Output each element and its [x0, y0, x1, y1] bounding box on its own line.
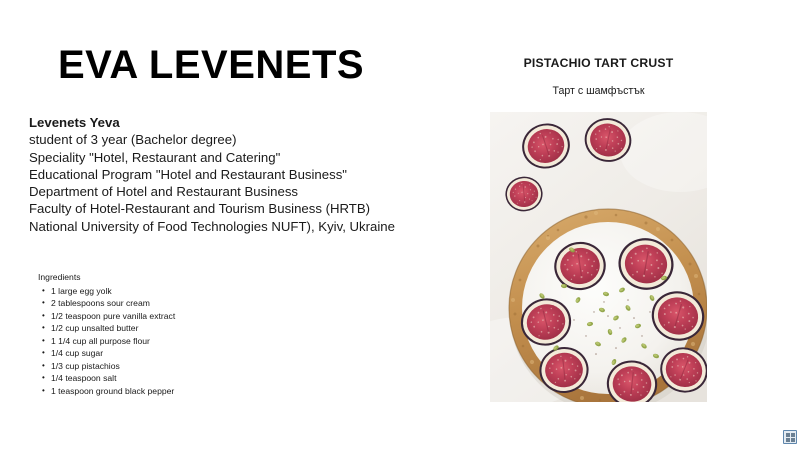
- slide-canvas: EVA LEVENETS Levenets Yeva student of 3 …: [0, 0, 800, 450]
- ingredients-list: •1 large egg yolk •2 tablespoons sour cr…: [38, 285, 298, 398]
- ingredient-text: 1/4 cup sugar: [51, 348, 103, 358]
- ingredients-heading: Ingredients: [38, 271, 298, 284]
- bio-block: Levenets Yeva student of 3 year (Bachelo…: [29, 114, 429, 235]
- bullet-icon: •: [42, 285, 45, 298]
- list-item: •1 teaspoon ground black pepper: [38, 385, 298, 398]
- fit-mark-bottom-left: [786, 438, 790, 442]
- ingredient-text: 1/3 cup pistachios: [51, 361, 120, 371]
- bullet-icon: •: [42, 360, 45, 373]
- bullet-icon: •: [42, 322, 45, 335]
- list-item: •1/4 cup sugar: [38, 347, 298, 360]
- bio-line-name: Levenets Yeva: [29, 114, 429, 131]
- ingredient-text: 1/2 cup unsalted butter: [51, 323, 138, 333]
- bullet-icon: •: [42, 385, 45, 398]
- bullet-icon: •: [42, 297, 45, 310]
- bio-line-university: National University of Food Technologies…: [29, 218, 429, 235]
- list-item: •1/3 cup pistachios: [38, 360, 298, 373]
- ingredient-text: 1 large egg yolk: [51, 286, 112, 296]
- fit-mark-top-left: [786, 433, 790, 437]
- ingredient-text: 1/4 teaspoon salt: [51, 373, 116, 383]
- tart-photo: [490, 112, 707, 402]
- recipe-subtitle-cyrillic: Тарт с шамфъстък: [490, 85, 707, 97]
- bio-line-program: Educational Program "Hotel and Restauran…: [29, 166, 429, 183]
- ingredient-text: 2 tablespoons sour cream: [51, 298, 150, 308]
- list-item: •1 large egg yolk: [38, 285, 298, 298]
- bullet-icon: •: [42, 372, 45, 385]
- list-item: •1 1/4 cup all purpose flour: [38, 335, 298, 348]
- recipe-title: PISTACHIO TART CRUST: [490, 56, 707, 70]
- list-item: •1/2 cup unsalted butter: [38, 322, 298, 335]
- bullet-icon: •: [42, 347, 45, 360]
- bio-line-faculty: Faculty of Hotel-Restaurant and Tourism …: [29, 200, 429, 217]
- ingredients-block: Ingredients •1 large egg yolk •2 tablesp…: [38, 271, 298, 397]
- bio-line-department: Department of Hotel and Restaurant Busin…: [29, 183, 429, 200]
- ingredient-text: 1/2 teaspoon pure vanilla extract: [51, 311, 175, 321]
- list-item: •1/2 teaspoon pure vanilla extract: [38, 310, 298, 323]
- bullet-icon: •: [42, 310, 45, 323]
- ingredient-text: 1 teaspoon ground black pepper: [51, 386, 174, 396]
- page-title: EVA LEVENETS: [58, 43, 364, 88]
- list-item: •2 tablespoons sour cream: [38, 297, 298, 310]
- bio-line-speciality: Speciality "Hotel, Restaurant and Cateri…: [29, 149, 429, 166]
- fit-mark-top-right: [791, 433, 795, 437]
- bullet-icon: •: [42, 335, 45, 348]
- fit-mark-bottom-right: [791, 438, 795, 442]
- ingredient-text: 1 1/4 cup all purpose flour: [51, 336, 150, 346]
- list-item: •1/4 teaspoon salt: [38, 372, 298, 385]
- fit-to-window-icon[interactable]: [783, 430, 797, 444]
- bio-line-student: student of 3 year (Bachelor degree): [29, 131, 429, 148]
